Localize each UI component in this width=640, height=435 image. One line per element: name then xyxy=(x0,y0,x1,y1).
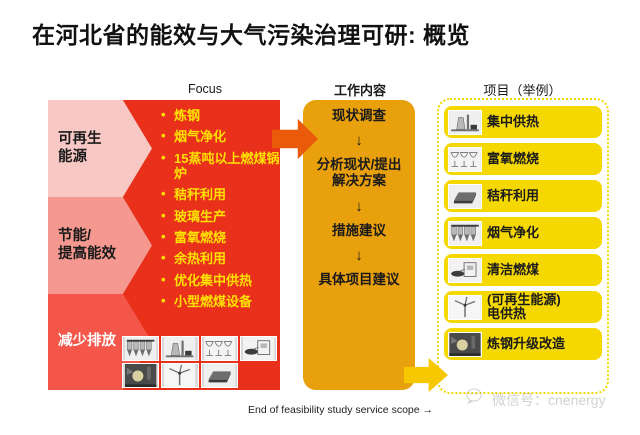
arrow-down-icon: ↓ xyxy=(303,248,415,263)
focus-band-label: 节能/ 提高能效 xyxy=(58,228,116,262)
work-step: 现状调查 xyxy=(307,108,411,124)
focus-photo-strip xyxy=(122,336,277,388)
focus-band-label: 可再生 能源 xyxy=(58,131,102,165)
footer-note: End of feasibility study service scope → xyxy=(248,404,433,416)
focus-bullet-list: 炼钢烟气净化15蒸吨以上燃煤锅炉秸秆利用玻璃生产富氧燃烧余热利用优化集中供热小型… xyxy=(160,108,280,315)
project-item[interactable]: 烟气净化 xyxy=(444,217,602,249)
project-examples-panel: 集中供热 富氧燃烧 秸秆利用 烟气净化 清洁燃煤 xyxy=(437,98,609,394)
project-item[interactable]: 清洁燃煤 xyxy=(444,254,602,286)
column-caption-focus: Focus xyxy=(130,82,280,96)
glasses-icon xyxy=(448,147,482,172)
focus-band-label: 减少排放 xyxy=(58,333,116,350)
project-item-label: 炼钢升级改造 xyxy=(487,337,565,351)
project-item-label: 集中供热 xyxy=(487,115,539,129)
focus-bullet-item: 玻璃生产 xyxy=(160,209,280,224)
focus-bullet-item: 15蒸吨以上燃煤锅炉 xyxy=(160,151,280,182)
arrow-down-icon: ↓ xyxy=(303,199,415,214)
work-content-panel: 现状调查↓分析现状/提出 解决方案↓措施建议↓具体项目建议 xyxy=(303,100,415,390)
focus-bullet-item: 富氧燃烧 xyxy=(160,230,280,245)
clean-coal-photo xyxy=(240,336,277,361)
project-item-label: 烟气净化 xyxy=(487,226,539,240)
cooling-tower-photo xyxy=(161,336,198,361)
focus-bullet-item: 秸秆利用 xyxy=(160,187,280,202)
column-caption-work: 工作内容 xyxy=(300,80,420,99)
focus-bullet-item: 余热利用 xyxy=(160,251,280,266)
filters-icon xyxy=(448,221,482,246)
project-item[interactable]: (可再生能源) 电供热 xyxy=(444,291,602,323)
work-step: 具体项目建议 xyxy=(307,272,411,288)
wind-turbine-icon xyxy=(448,295,482,320)
project-item-label: 清洁燃煤 xyxy=(487,263,539,277)
straw-bale-photo xyxy=(201,363,238,388)
focus-bullet-item: 小型燃煤设备 xyxy=(160,294,280,309)
project-item[interactable]: 炼钢升级改造 xyxy=(444,328,602,360)
project-item-label: 秸秆利用 xyxy=(487,189,539,203)
work-step: 措施建议 xyxy=(307,223,411,239)
page-title: 在河北省的能效与大气污染治理可研: 概览 xyxy=(32,16,470,50)
work-step: 分析现状/提出 解决方案 xyxy=(307,157,411,189)
arrow-down-icon: ↓ xyxy=(303,133,415,148)
straw-bale-icon xyxy=(448,184,482,209)
steel-mill-icon xyxy=(448,332,482,357)
project-item-label: (可再生能源) 电供热 xyxy=(487,293,561,322)
project-item[interactable]: 富氧燃烧 xyxy=(444,143,602,175)
project-item[interactable]: 秸秆利用 xyxy=(444,180,602,212)
project-item-label: 富氧燃烧 xyxy=(487,152,539,166)
focus-band-renewable: 可再生 能源 xyxy=(48,100,152,197)
glasses-photo xyxy=(201,336,238,361)
clean-coal-icon xyxy=(448,258,482,283)
filters-photo xyxy=(122,336,159,361)
project-item[interactable]: 集中供热 xyxy=(444,106,602,138)
cooling-tower-icon xyxy=(448,110,482,135)
focus-band-efficiency: 节能/ 提高能效 xyxy=(48,197,152,294)
column-caption-project: 项目（举例） xyxy=(440,80,605,99)
focus-bullet-item: 烟气净化 xyxy=(160,129,280,144)
wind-turbine-photo xyxy=(161,363,198,388)
focus-bullet-item: 优化集中供热 xyxy=(160,273,280,288)
steel-mill-photo xyxy=(122,363,159,388)
focus-bullet-item: 炼钢 xyxy=(160,108,280,123)
